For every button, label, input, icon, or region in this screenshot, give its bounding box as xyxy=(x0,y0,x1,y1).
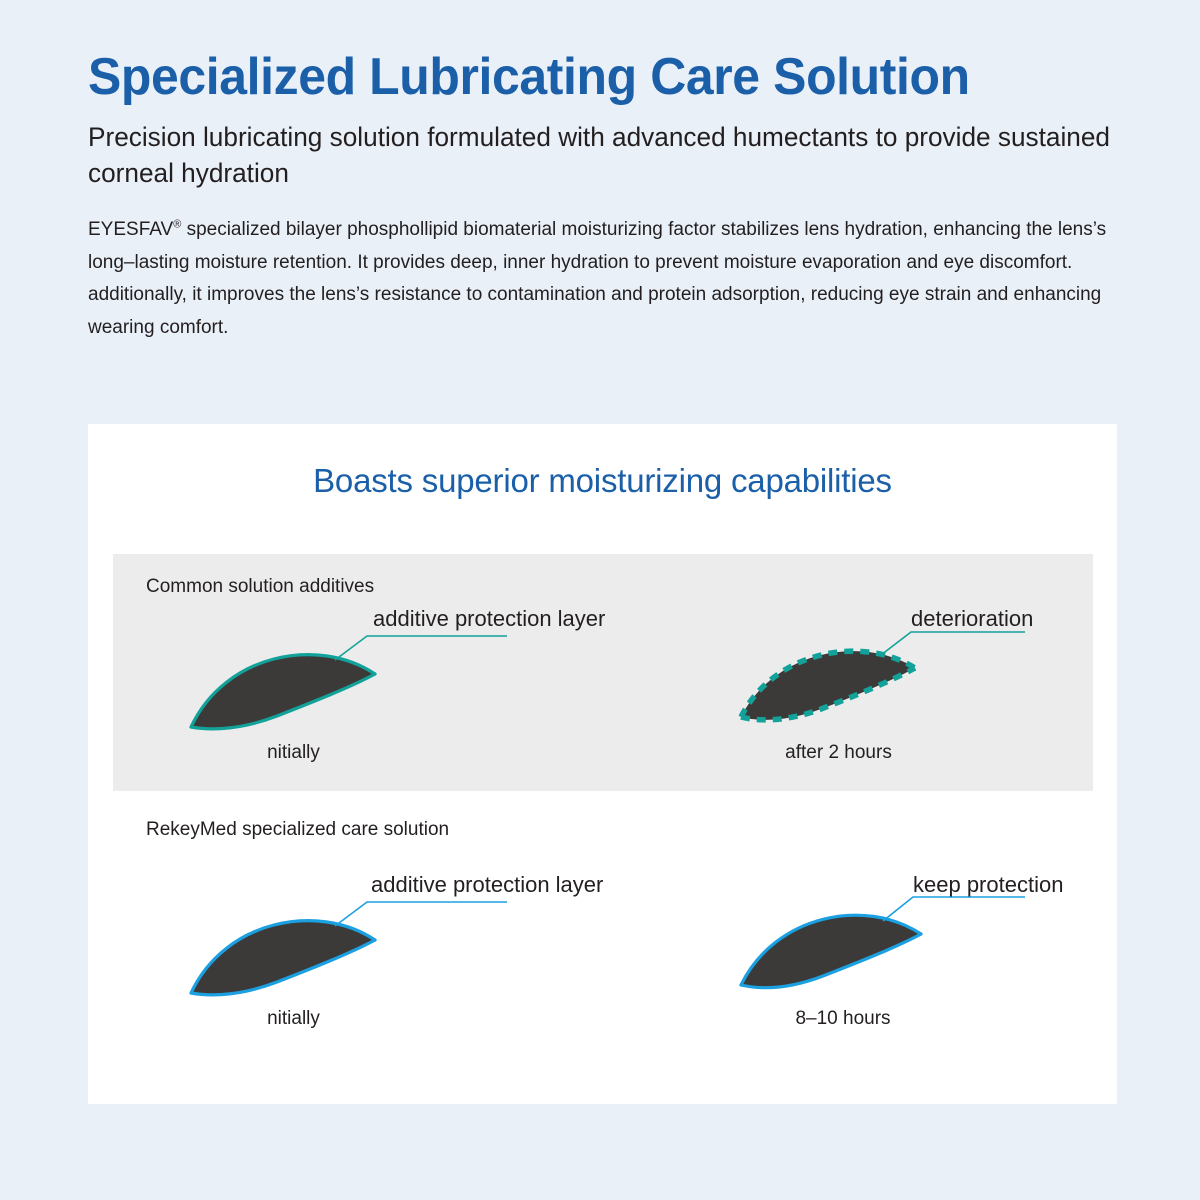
lens-body-shape xyxy=(191,921,375,995)
page-title: Specialized Lubricating Care Solution xyxy=(88,48,1106,106)
diagram-common: additive protection layer deterioration … xyxy=(113,554,1093,791)
body-paragraph-text: specialized bilayer phosphollipid biomat… xyxy=(88,219,1106,338)
leader-line-common-initial xyxy=(335,636,507,660)
leader-line-rekeymed-initial xyxy=(335,902,507,926)
lens-body-shape xyxy=(741,651,915,720)
lens-common-initial xyxy=(191,655,375,729)
leader-line-rekeymed-kept xyxy=(883,897,1025,921)
callout-common-deteriorated: deterioration xyxy=(911,606,1033,632)
caption-rekeymed-initial: nitially xyxy=(201,1008,386,1030)
lens-common-deteriorated xyxy=(741,651,915,720)
card-heading: Boasts superior moisturizing capabilitie… xyxy=(88,462,1117,500)
panel-rekeymed-solution: RekeyMed specialized care solution xyxy=(113,791,1093,1101)
brand-name: EYESFAV xyxy=(88,219,173,240)
callout-rekeymed-kept: keep protection xyxy=(913,872,1063,898)
page-subtitle: Precision lubricating solution formulate… xyxy=(88,120,1116,192)
caption-rekeymed-after-hours: 8–10 hours xyxy=(753,1008,933,1030)
caption-common-initial: nitially xyxy=(201,742,386,764)
body-paragraph: EYESFAV® specialized bilayer phosphollip… xyxy=(88,214,1134,345)
callout-rekeymed-initial: additive protection layer xyxy=(371,872,603,898)
lens-rekeymed-kept xyxy=(741,915,921,988)
lens-body-shape xyxy=(191,655,375,729)
caption-common-after-2-hours: after 2 hours xyxy=(751,742,926,764)
callout-common-initial: additive protection layer xyxy=(373,606,605,632)
comparison-card: Boasts superior moisturizing capabilitie… xyxy=(88,424,1117,1104)
panel-common-solution: Common solution additives xyxy=(113,554,1093,791)
lens-body-shape xyxy=(741,915,921,988)
page-header: Specialized Lubricating Care Solution Pr… xyxy=(88,48,1148,345)
leader-line-common-deteriorated xyxy=(881,632,1025,655)
diagram-rekeymed: additive protection layer keep protectio… xyxy=(113,791,1093,1101)
lens-rekeymed-initial xyxy=(191,921,375,995)
diagram-svg-rekeymed xyxy=(113,791,1093,1101)
